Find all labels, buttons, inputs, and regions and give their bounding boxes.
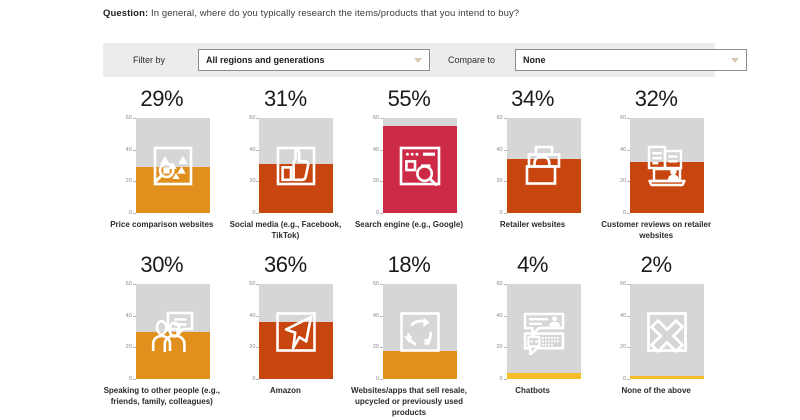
y-axis-tick: 20 [237,344,259,350]
survey-chart-panel: Question: In general, where do you typic… [0,0,800,420]
y-axis-tick: 20 [114,178,136,184]
y-axis: 6040200 [361,284,383,379]
value-label: 34% [511,88,554,110]
bar-fill [383,126,457,213]
bar-chart: 6040200 [608,118,704,213]
category-caption: Chatbots [473,385,593,396]
y-axis: 6040200 [114,118,136,213]
y-axis-tick: 60 [485,115,507,121]
chatbot-icon [507,284,581,379]
value-label: 2% [641,254,672,276]
y-axis: 6040200 [608,284,630,379]
category-caption: Speaking to other people (e.g., friends,… [102,385,222,407]
chart-cell: 29% 6040200 Price comparison websites [100,88,224,241]
y-axis-tick: 40 [608,313,630,319]
bar-chart: 6040200 [114,284,210,379]
y-axis-tick: 40 [485,147,507,153]
y-axis-tick: 20 [608,178,630,184]
chart-cell: 31% 6040200 Social media (e.g., Facebook… [224,88,348,241]
category-caption: Websites/apps that sell resale, upcycled… [349,385,469,418]
bar-plot-area [136,284,210,379]
chart-cell: 18% 6040200 Websites/apps that sell resa… [347,254,471,418]
bar-plot-area [259,284,333,379]
y-axis-tick: 40 [114,147,136,153]
chart-cell: 4% 6040200 [471,254,595,418]
bar-plot-area [630,118,704,213]
bar-plot-area [507,118,581,213]
y-axis-tick: 60 [237,281,259,287]
y-axis-tick: 20 [237,178,259,184]
compare-to-group: Compare to None [448,49,747,71]
bar-fill [383,351,457,380]
y-axis-tick: 40 [237,313,259,319]
bar-plot-area [383,118,457,213]
bar-fill [136,167,210,213]
bar-chart: 6040200 [485,118,581,213]
bar-chart: 6040200 [237,118,333,213]
category-caption: Customer reviews on retailer websites [596,219,716,241]
question-text: In general, where do you typically resea… [148,8,519,19]
y-axis-tick: 60 [361,115,383,121]
y-axis-tick: 0 [114,376,136,382]
y-axis: 6040200 [237,118,259,213]
bar-plot-area [136,118,210,213]
y-axis: 6040200 [114,284,136,379]
chevron-down-icon [414,58,422,63]
value-label: 36% [264,254,307,276]
category-caption: Retailer websites [473,219,593,230]
bar-chart: 6040200 [361,284,457,379]
value-label: 29% [140,88,183,110]
bar-chart: 6040200 [361,118,457,213]
value-label: 31% [264,88,307,110]
value-label: 4% [517,254,548,276]
chart-cell: 32% 6040200 Customer reviews on retailer… [594,88,718,241]
compare-to-select[interactable]: None [515,49,747,71]
category-caption: Search engine (e.g., Google) [349,219,469,230]
y-axis-tick: 0 [114,210,136,216]
category-caption: Amazon [225,385,345,396]
bar-plot-area [630,284,704,379]
bar-plot-area [507,284,581,379]
y-axis-tick: 40 [361,147,383,153]
chart-cell: 34% 6040200 Retailer websites [471,88,595,241]
cross-x-icon [630,284,704,379]
bar-fill [507,159,581,213]
y-axis: 6040200 [485,284,507,379]
question-line: Question: In general, where do you typic… [103,8,743,19]
bar-chart: 6040200 [114,118,210,213]
y-axis: 6040200 [237,284,259,379]
y-axis-tick: 60 [114,115,136,121]
bar-plot-area [383,284,457,379]
y-axis-tick: 20 [114,344,136,350]
chart-grid: 29% 6040200 Price comparison websites 31… [100,88,718,418]
chart-cell: 30% 6040200 Speaking to other people (e.… [100,254,224,418]
y-axis-tick: 0 [237,210,259,216]
chart-cell: 2% 6040200 None of the above [594,254,718,418]
y-axis-tick: 40 [114,313,136,319]
category-caption: None of the above [596,385,716,396]
y-axis-tick: 60 [361,281,383,287]
y-axis-tick: 60 [237,115,259,121]
y-axis-tick: 20 [485,178,507,184]
category-caption: Social media (e.g., Facebook, TikTok) [225,219,345,241]
chevron-down-icon [731,58,739,63]
chart-cell: 55% 6040200 Search engine (e.g., Google) [347,88,471,241]
filter-by-value: All regions and generations [206,55,325,65]
bar-fill [630,162,704,213]
bar-fill [136,332,210,380]
bar-plot-area [259,118,333,213]
y-axis-tick: 0 [485,210,507,216]
y-axis-tick: 20 [361,178,383,184]
value-label: 32% [635,88,678,110]
bar-fill [507,373,581,379]
y-axis-tick: 40 [237,147,259,153]
value-label: 30% [140,254,183,276]
y-axis-tick: 0 [237,376,259,382]
bar-fill [630,376,704,379]
y-axis: 6040200 [361,118,383,213]
bar-chart: 6040200 [485,284,581,379]
question-label: Question: [103,8,148,19]
y-axis: 6040200 [608,118,630,213]
y-axis-tick: 0 [608,210,630,216]
bar-chart: 6040200 [608,284,704,379]
y-axis-tick: 60 [485,281,507,287]
y-axis-tick: 20 [485,344,507,350]
filter-by-group: Filter by All regions and generations [133,49,430,71]
bar-chart: 6040200 [237,284,333,379]
y-axis-tick: 0 [361,376,383,382]
y-axis-tick: 60 [608,281,630,287]
chart-cell: 36% 6040200 Amazon [224,254,348,418]
y-axis: 6040200 [485,118,507,213]
bar-fill [259,164,333,213]
compare-to-value: None [523,55,546,65]
filter-by-label: Filter by [133,55,195,65]
value-label: 55% [388,88,431,110]
y-axis-tick: 40 [361,313,383,319]
y-axis-tick: 0 [608,376,630,382]
value-label: 18% [388,254,431,276]
y-axis-tick: 0 [361,210,383,216]
y-axis-tick: 20 [608,344,630,350]
bar-fill [259,322,333,379]
y-axis-tick: 20 [361,344,383,350]
y-axis-tick: 40 [608,147,630,153]
category-caption: Price comparison websites [102,219,222,230]
filter-by-select[interactable]: All regions and generations [198,49,430,71]
compare-to-label: Compare to [448,55,512,65]
y-axis-tick: 0 [485,376,507,382]
y-axis-tick: 60 [114,281,136,287]
y-axis-tick: 40 [485,313,507,319]
filter-bar: Filter by All regions and generations Co… [103,43,715,77]
y-axis-tick: 60 [608,115,630,121]
